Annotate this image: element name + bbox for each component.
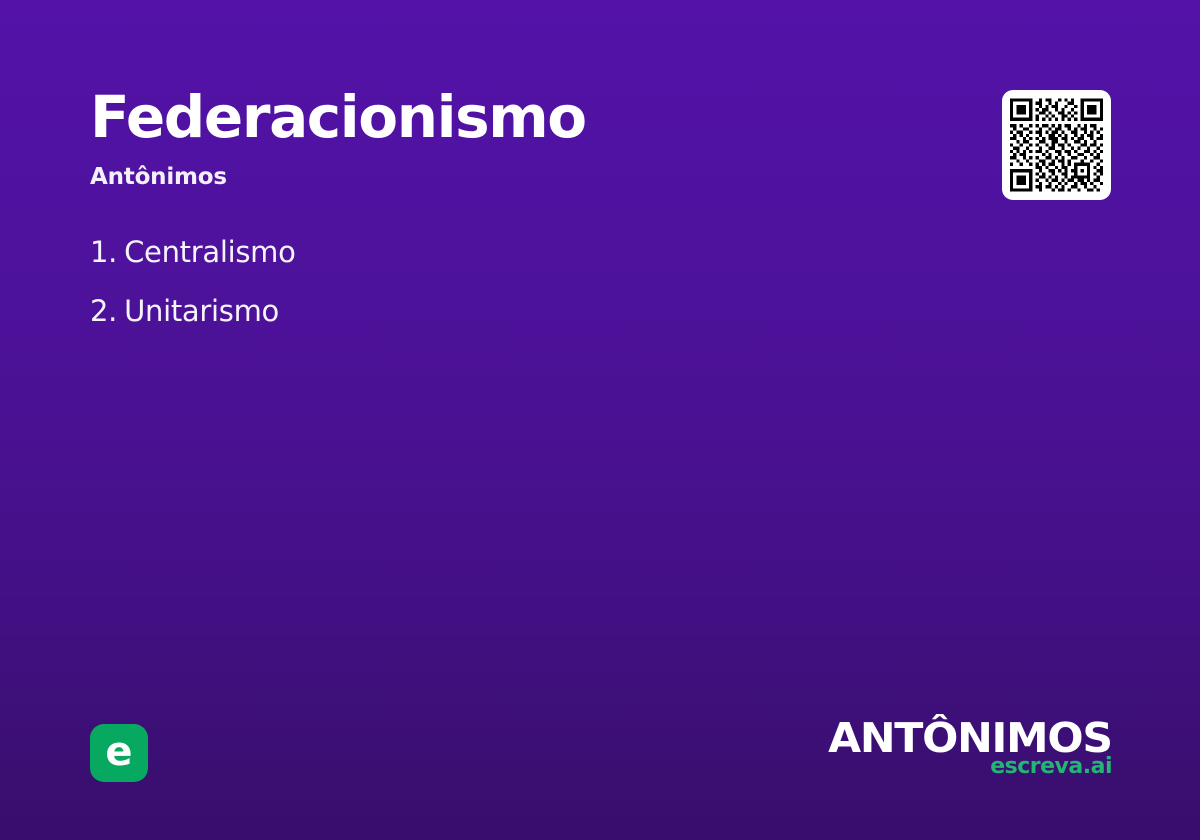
list-item: 2.Unitarismo [90,297,850,326]
list-item: 1.Centralismo [90,238,850,267]
antonym-list: 1.Centralismo 2.Unitarismo [90,238,850,356]
list-item-label: Unitarismo [124,294,279,328]
qr-code-icon [1010,98,1103,192]
antonyms-card: Federacionismo Antônimos 1.Centralismo 2… [0,0,1200,840]
brand-wordmark: ANTÔNIMOS escreva.ai [839,718,1112,779]
escreva-e-logo-icon[interactable]: e [90,724,148,782]
list-item-index: 2. [90,294,117,328]
list-item-index: 1. [90,235,117,269]
page-subtitle: Antônimos [90,164,910,190]
qr-code[interactable] [1002,90,1111,200]
header: Federacionismo Antônimos [90,88,910,190]
page-title: Federacionismo [90,88,910,146]
brand-badge-letter: e [105,732,132,772]
list-item-label: Centralismo [124,235,295,269]
wordmark-title: ANTÔNIMOS [828,718,1112,759]
